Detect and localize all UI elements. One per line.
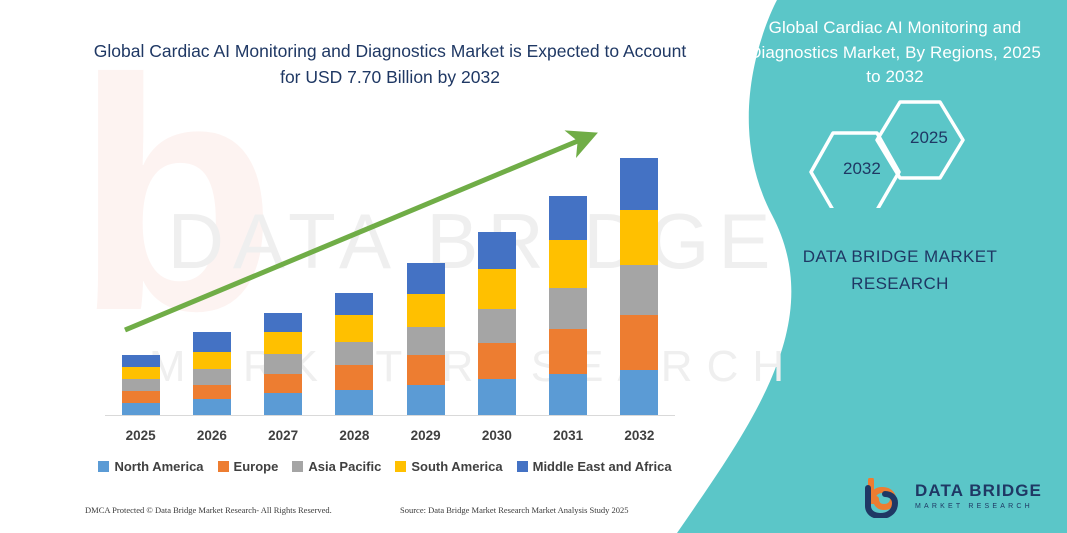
panel-brand-line-2: RESEARCH — [760, 270, 1040, 297]
bar-segment — [407, 327, 445, 355]
bar-segment — [549, 196, 587, 240]
bar-segment — [620, 158, 658, 210]
x-axis-tick: 2025 — [111, 428, 171, 443]
hexagon-group: 2025 2032 — [795, 98, 995, 208]
bar-segment — [193, 352, 231, 369]
bar-segment — [264, 374, 302, 393]
bar-segment — [335, 342, 373, 365]
x-axis-tick: 2032 — [609, 428, 669, 443]
bar-segment — [193, 385, 231, 399]
bar-segment — [549, 329, 587, 374]
legend-swatch-icon — [218, 461, 229, 472]
bar-column — [478, 232, 516, 415]
bar-segment — [122, 355, 160, 367]
panel-brand-line-1: DATA BRIDGE MARKET — [760, 243, 1040, 270]
bar-segment — [193, 332, 231, 352]
footer-source: Source: Data Bridge Market Research Mark… — [400, 505, 629, 515]
infographic-root: b DATA BRIDGE MARKET RESEARCH Global Car… — [0, 0, 1067, 533]
logo-title: DATA BRIDGE — [915, 481, 1042, 501]
bar-segment — [478, 309, 516, 343]
bar-segment — [407, 294, 445, 327]
bar-segment — [549, 374, 587, 415]
legend-item[interactable]: Asia Pacific — [292, 459, 381, 474]
x-axis-tick: 2027 — [253, 428, 313, 443]
legend-label: North America — [114, 459, 203, 474]
bar-segment — [122, 367, 160, 379]
bar-segment — [549, 288, 587, 329]
bar-segment — [122, 379, 160, 391]
legend-item[interactable]: North America — [98, 459, 203, 474]
logo-mark-icon — [865, 478, 909, 518]
bar-segment — [122, 391, 160, 403]
bar-segment — [620, 265, 658, 315]
chart-legend: North AmericaEuropeAsia PacificSouth Ame… — [85, 459, 685, 474]
panel-title: Global Cardiac AI Monitoring and Diagnos… — [745, 16, 1045, 90]
bar-segment — [264, 354, 302, 374]
bar-segment — [122, 403, 160, 415]
bar-segment — [620, 210, 658, 265]
hexagon-label-2025: 2025 — [910, 128, 948, 148]
footer-copyright: DMCA Protected © Data Bridge Market Rese… — [85, 505, 332, 515]
bar-segment — [335, 293, 373, 315]
bar-segment — [478, 269, 516, 309]
x-axis-line — [105, 415, 675, 416]
legend-swatch-icon — [517, 461, 528, 472]
bar-column — [549, 196, 587, 415]
bar-column — [335, 293, 373, 415]
bar-column — [264, 313, 302, 415]
logo-subtitle: MARKET RESEARCH — [915, 503, 1042, 510]
legend-label: Europe — [234, 459, 279, 474]
bar-segment — [478, 343, 516, 379]
x-axis-tick: 2030 — [467, 428, 527, 443]
legend-swatch-icon — [395, 461, 406, 472]
bar-column — [407, 263, 445, 415]
x-axis-tick: 2029 — [396, 428, 456, 443]
bar-segment — [335, 390, 373, 415]
legend-item[interactable]: South America — [395, 459, 502, 474]
x-axis-labels: 20252026202720282029203020312032 — [105, 428, 675, 448]
bar-segment — [478, 232, 516, 269]
legend-swatch-icon — [292, 461, 303, 472]
bar-segment — [407, 355, 445, 385]
bar-segment — [335, 365, 373, 390]
legend-swatch-icon — [98, 461, 109, 472]
page-title: Global Cardiac AI Monitoring and Diagnos… — [90, 38, 690, 91]
bar-chart — [85, 120, 685, 420]
bar-segment — [335, 315, 373, 342]
bar-segment — [264, 393, 302, 415]
bar-segment — [407, 263, 445, 294]
panel-brand: DATA BRIDGE MARKET RESEARCH — [760, 243, 1040, 297]
bar-segment — [407, 385, 445, 415]
bar-column — [620, 158, 658, 415]
bar-segment — [264, 332, 302, 354]
legend-item[interactable]: Middle East and Africa — [517, 459, 672, 474]
legend-label: Asia Pacific — [308, 459, 381, 474]
logo-text: DATA BRIDGE MARKET RESEARCH — [915, 481, 1042, 510]
x-axis-tick: 2026 — [182, 428, 242, 443]
x-axis-tick: 2028 — [324, 428, 384, 443]
bar-segment — [264, 313, 302, 332]
legend-label: South America — [411, 459, 502, 474]
footer: DMCA Protected © Data Bridge Market Rese… — [0, 505, 700, 527]
bar-segment — [478, 379, 516, 415]
company-logo: DATA BRIDGE MARKET RESEARCH — [865, 478, 1045, 520]
bar-column — [193, 332, 231, 415]
bar-segment — [193, 399, 231, 415]
hexagon-label-2032: 2032 — [843, 159, 881, 179]
bar-segment — [193, 369, 231, 385]
legend-item[interactable]: Europe — [218, 459, 279, 474]
bar-segment — [620, 315, 658, 370]
bar-segment — [620, 370, 658, 415]
bar-column — [122, 355, 160, 415]
chart-plot-area — [105, 120, 675, 415]
legend-label: Middle East and Africa — [533, 459, 672, 474]
x-axis-tick: 2031 — [538, 428, 598, 443]
bar-segment — [549, 240, 587, 288]
